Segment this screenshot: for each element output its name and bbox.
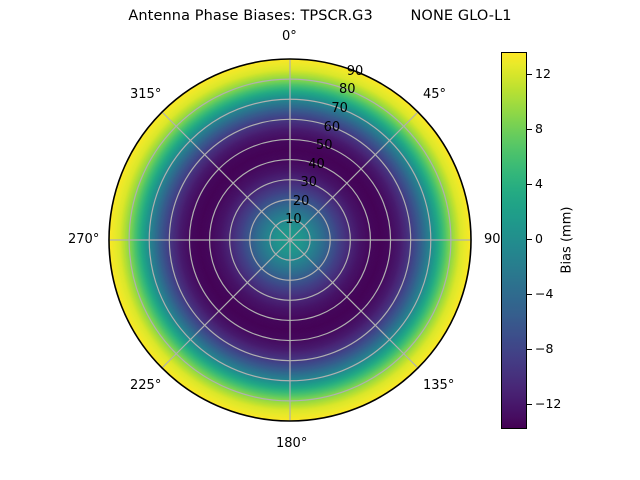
colorbar-gradient: [501, 52, 527, 429]
angular-tick-270: 270°: [68, 233, 99, 246]
radial-tick-10: 10: [280, 213, 302, 226]
colorbar-tick-label-4: −4: [535, 288, 553, 301]
angular-tick-225: 225°: [130, 379, 161, 392]
colorbar-tick-mark-4: [527, 294, 532, 295]
radial-tick-50: 50: [310, 139, 332, 152]
colorbar-tick-label-6: −12: [535, 398, 561, 411]
radial-tick-30: 30: [295, 176, 317, 189]
radial-tick-90: 90: [341, 65, 363, 78]
angular-tick-90: 90: [484, 233, 501, 246]
polar-chart-figure: Antenna Phase Biases: TPSCR.G3 NONE GLO-…: [0, 0, 640, 480]
radial-tick-40: 40: [303, 158, 325, 171]
colorbar-tick-mark-5: [527, 349, 532, 350]
radial-tick-60: 60: [318, 121, 340, 134]
colorbar: 12840−4−8−12: [501, 52, 527, 429]
polar-grid: [109, 59, 471, 421]
colorbar-tick-mark-1: [527, 129, 532, 130]
polar-plot-svg: [108, 58, 472, 422]
angular-tick-315: 315°: [130, 88, 161, 101]
radial-tick-20: 20: [287, 195, 309, 208]
angular-tick-180: 180°: [276, 437, 307, 450]
colorbar-tick-label-5: −8: [535, 343, 553, 356]
polar-axes: 10 20 30 40 50 60 70 80 90: [108, 58, 472, 422]
colorbar-axis-label: Bias (mm): [561, 207, 574, 274]
colorbar-tick-label-0: 12: [535, 68, 551, 81]
colorbar-tick-label-3: 0: [535, 233, 543, 246]
colorbar-tick-label-2: 4: [535, 178, 543, 191]
radial-tick-80: 80: [334, 83, 356, 96]
colorbar-tick-mark-3: [527, 239, 532, 240]
angular-tick-135: 135°: [423, 379, 454, 392]
angular-tick-0: 0°: [282, 30, 297, 43]
radial-tick-70: 70: [326, 102, 348, 115]
colorbar-tick-mark-2: [527, 184, 532, 185]
page-title: Antenna Phase Biases: TPSCR.G3 NONE GLO-…: [0, 8, 640, 24]
colorbar-tick-label-1: 8: [535, 123, 543, 136]
colorbar-tick-mark-6: [527, 404, 532, 405]
colorbar-tick-mark-0: [527, 74, 532, 75]
angular-tick-45: 45°: [423, 88, 446, 101]
